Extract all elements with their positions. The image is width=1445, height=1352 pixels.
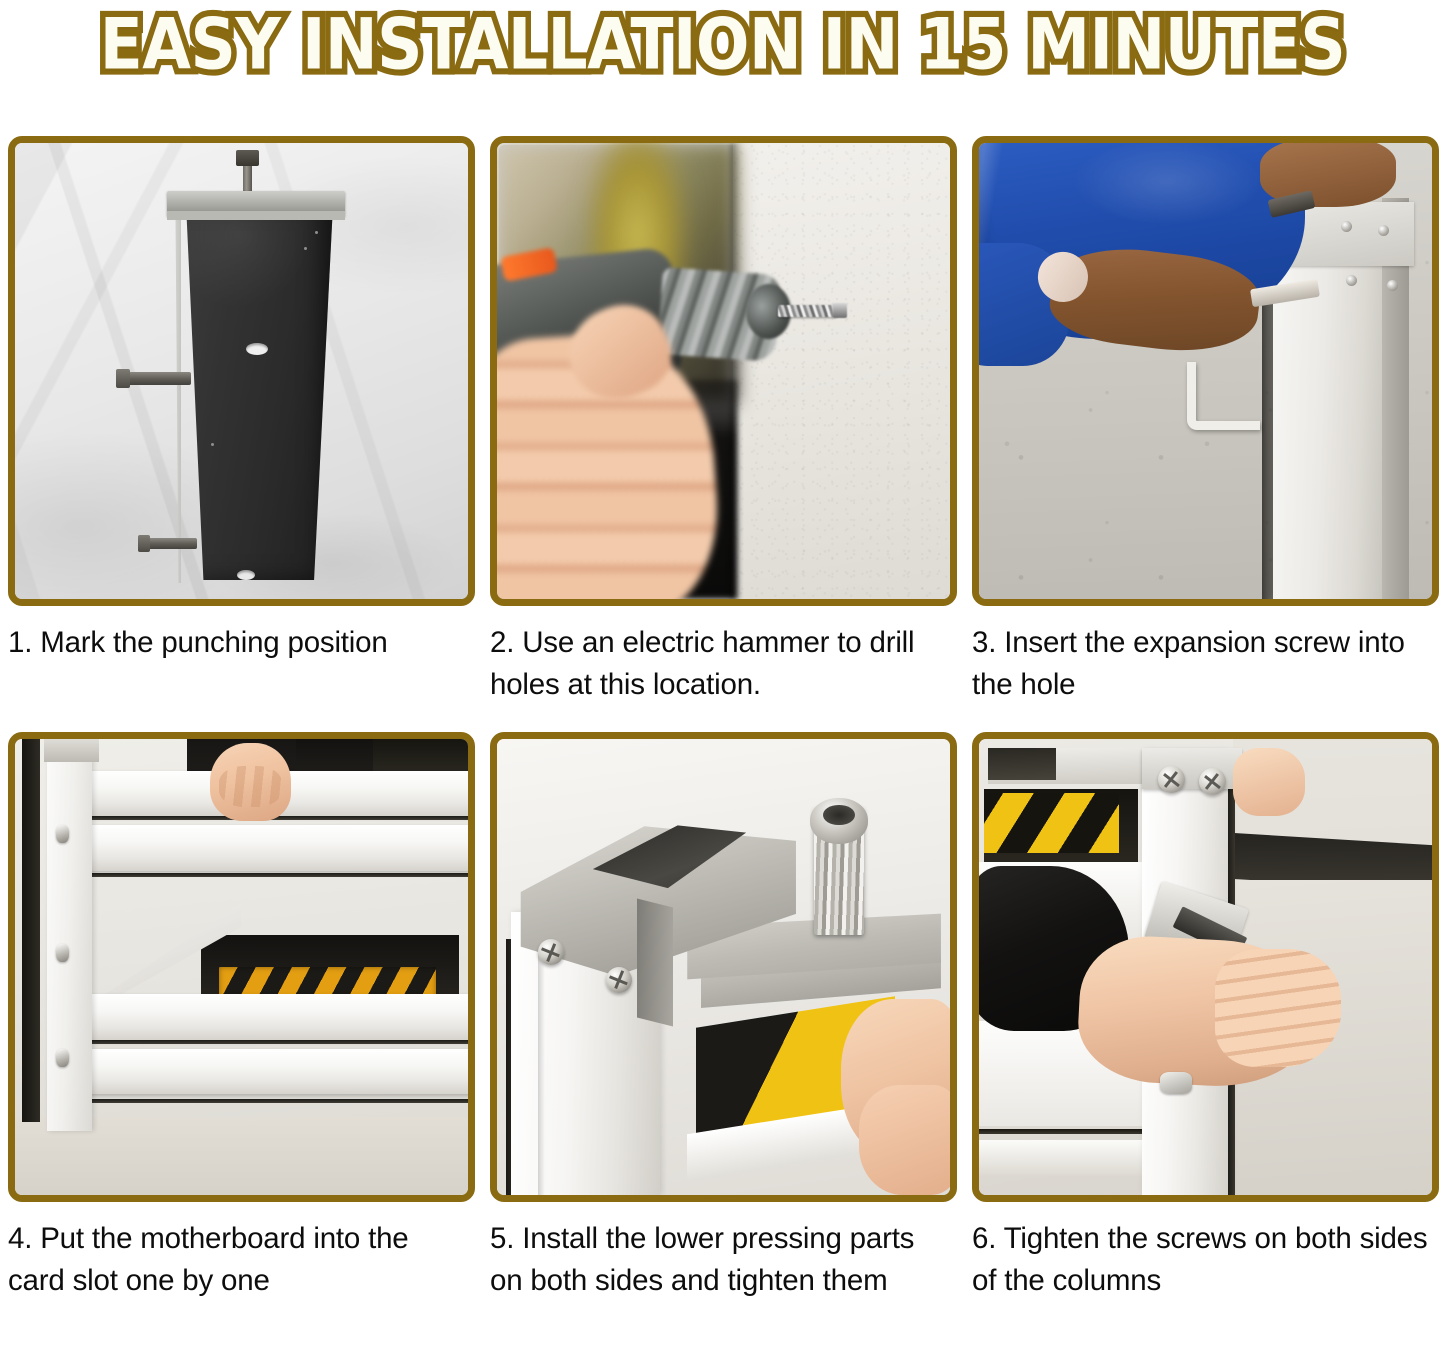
step-card-3: 3. Insert the expansion screw into the h… [964, 96, 1444, 706]
step-5-caption: 5. Install the lower pressing parts on b… [490, 1218, 952, 1302]
plate-screw [1378, 225, 1389, 236]
bolt-socket-hole [823, 805, 855, 826]
plate-screw [1341, 221, 1352, 232]
barrier-board [87, 1049, 468, 1095]
masonry-drill-bit [778, 305, 837, 317]
surface-speck [304, 247, 307, 250]
column-cap-edge [167, 211, 345, 220]
drill-bit-tip [833, 303, 847, 319]
steadying-hand [1233, 748, 1305, 816]
step-1-photo-frame [8, 136, 475, 606]
step-6-caption: 6. Tighten the screws on both sides of t… [972, 1218, 1434, 1302]
steps-grid: 1. Mark the punching position [0, 96, 1445, 1302]
step-card-2: 2. Use an electric hammer to drill holes… [482, 96, 962, 706]
barrier-board [979, 1140, 1151, 1176]
column-black-edge [22, 739, 40, 1122]
column-screw [56, 1049, 69, 1067]
hazard-stripe-tape [984, 793, 1120, 852]
expansion-bolt-lower-head [138, 535, 150, 552]
phillips-screw [538, 939, 564, 965]
column-cap-plate [44, 739, 98, 762]
phillips-screw [1199, 768, 1226, 795]
step-3-photo-frame [972, 136, 1439, 606]
phillips-screw [606, 967, 632, 993]
step-3-caption: 3. Insert the expansion screw into the h… [972, 622, 1434, 706]
column-screw [56, 825, 69, 843]
step-5-photo-frame [490, 732, 957, 1202]
board-gap-line [87, 1099, 468, 1103]
mounting-hole-upper [246, 343, 268, 355]
drill-holes-photo [497, 143, 950, 599]
rod-nut [236, 150, 259, 166]
install-lower-pressing-parts-photo [497, 739, 950, 1195]
mounting-hole-lower [237, 570, 255, 580]
bracket-lip [637, 898, 673, 1026]
page-title-banner: EASY INSTALLATION IN 15 MINUTES [0, 0, 1445, 88]
step-card-1: 1. Mark the punching position [0, 96, 480, 706]
barrier-board [87, 825, 468, 871]
wall-corner-edge [730, 143, 741, 599]
step-1-caption: 1. Mark the punching position [8, 622, 470, 664]
board-gap-line [87, 873, 468, 877]
board-gap-line [979, 1129, 1151, 1134]
textured-wall [733, 143, 950, 599]
mark-punching-position-photo [15, 143, 468, 599]
expansion-bolt-upper-head [116, 369, 130, 388]
column-cap-plate [1142, 748, 1242, 789]
installation-guide-page: EASY INSTALLATION IN 15 MINUTES [0, 0, 1445, 1352]
surface-speck [211, 443, 214, 446]
step-card-6: 6. Tighten the screws on both sides of t… [964, 706, 1444, 1302]
step-2-caption: 2. Use an electric hammer to drill holes… [490, 622, 952, 706]
step-card-4: 4. Put the motherboard into the card slo… [0, 706, 480, 1302]
step-card-5: 5. Install the lower pressing parts on b… [482, 706, 962, 1302]
left-white-column [47, 739, 92, 1131]
surface-speck [315, 231, 318, 234]
step-2-photo-frame [490, 136, 957, 606]
insert-expansion-screw-photo [979, 143, 1432, 599]
allen-hex-key [1187, 362, 1259, 430]
step-6-photo-frame [972, 732, 1439, 1202]
installer-fingers [219, 766, 282, 807]
column-screw [56, 944, 69, 962]
page-title: EASY INSTALLATION IN 15 MINUTES [100, 3, 1345, 85]
upper-dark-bracket [988, 748, 1056, 780]
step-4-photo-frame [8, 732, 475, 1202]
installer-fingers [1215, 949, 1342, 1068]
phillips-screw [1158, 766, 1185, 793]
barrier-board [87, 994, 468, 1040]
lower-column-screw [1160, 1072, 1192, 1095]
insert-boards-card-slot-photo [15, 739, 468, 1195]
board-gap-line [87, 1040, 468, 1044]
installer-fingers [859, 1085, 950, 1194]
tighten-column-screws-photo [979, 739, 1432, 1195]
plate-screw [1387, 280, 1398, 291]
step-4-caption: 4. Put the motherboard into the card slo… [8, 1218, 470, 1302]
